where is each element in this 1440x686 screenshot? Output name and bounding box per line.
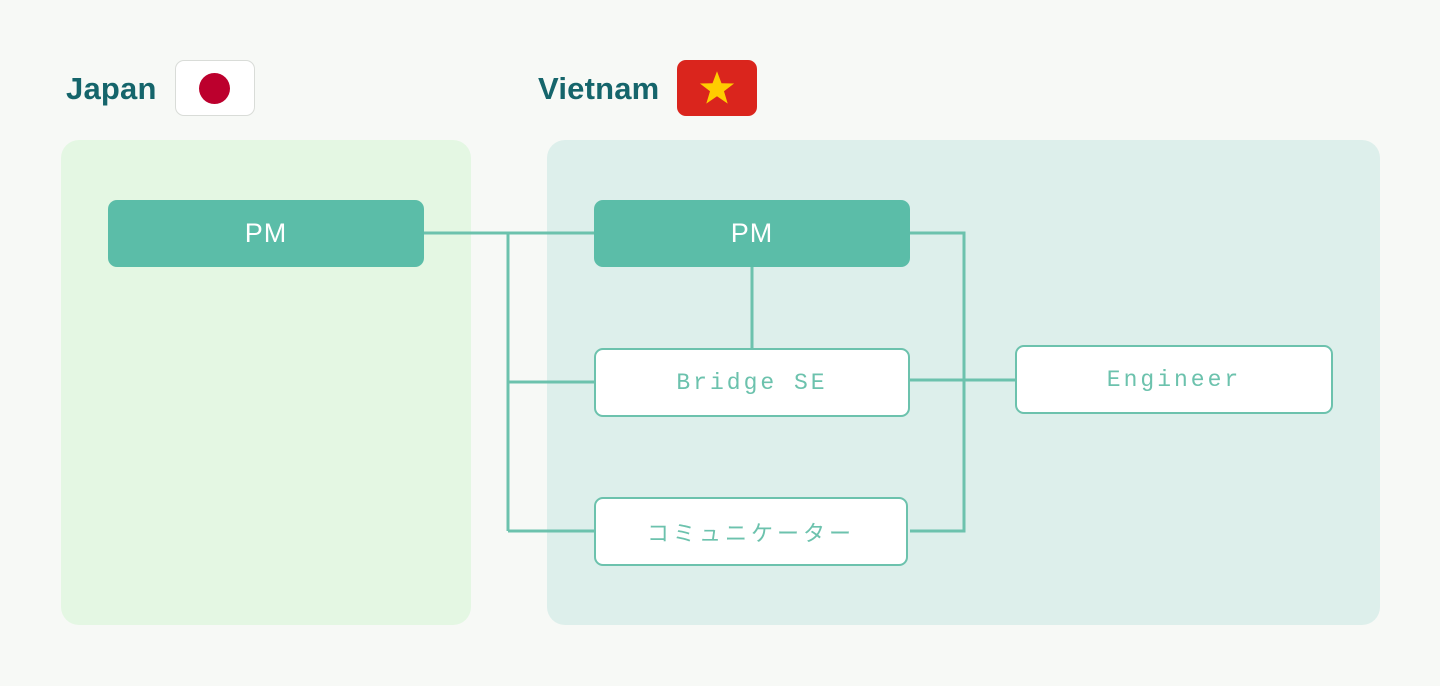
diagram-canvas: Japan Vietnam horizontal trunk -> Vietna… [0, 0, 1440, 686]
connector-vietnampm-right-trunk [910, 233, 964, 531]
node-bridge-se[interactable]: Bridge SE [594, 348, 910, 417]
node-label: PM [731, 218, 774, 249]
node-label: PM [245, 218, 288, 249]
node-japan-pm[interactable]: PM [108, 200, 424, 267]
node-communicator[interactable]: コミュニケーター [594, 497, 908, 566]
node-label: コミュニケーター [647, 516, 855, 548]
node-vietnam-pm[interactable]: PM [594, 200, 910, 267]
node-label: Bridge SE [676, 370, 827, 396]
node-label: Engineer [1107, 367, 1241, 393]
connector-lines: horizontal trunk -> Vietnam PM --> [0, 0, 1440, 686]
node-engineer[interactable]: Engineer [1015, 345, 1333, 414]
